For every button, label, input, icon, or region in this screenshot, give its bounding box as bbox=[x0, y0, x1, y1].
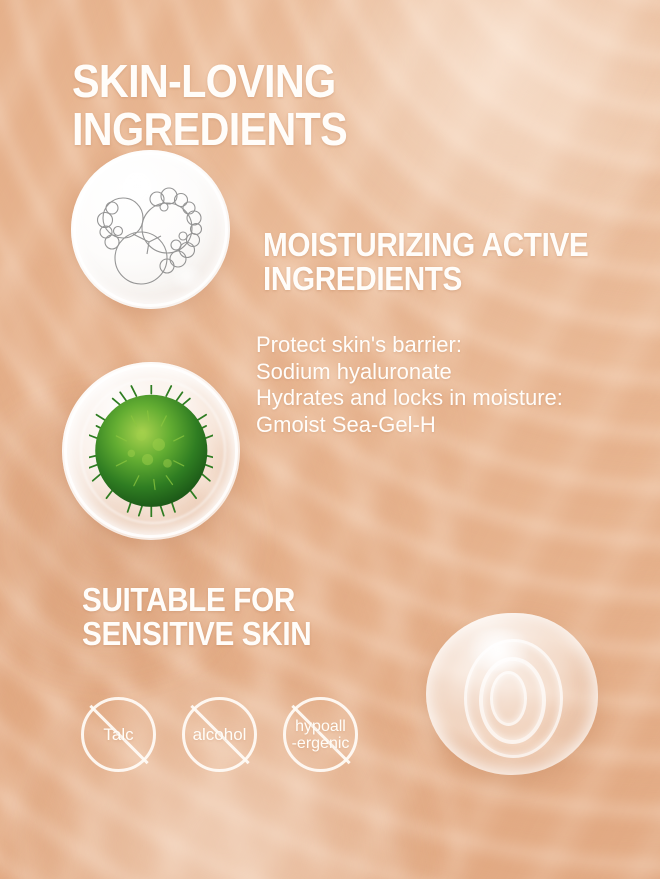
badge-label: Talc bbox=[64, 726, 174, 744]
gel-ripple-inner bbox=[490, 671, 527, 726]
algae-sphere-icon bbox=[89, 385, 214, 517]
page-title: SKIN-LOVING INGREDIENTS bbox=[72, 58, 601, 154]
badge-talc: Talc bbox=[81, 697, 156, 772]
product-infographic-poster: SKIN-LOVING INGREDIENTS bbox=[0, 0, 660, 879]
badge-hypoallergenic: hypoall -ergenic bbox=[283, 697, 358, 772]
moisturizing-body-text: Protect skin's barrier: Sodium hyalurona… bbox=[256, 332, 616, 438]
moss-droplet-image bbox=[62, 362, 240, 540]
bubble-cluster-icon bbox=[71, 150, 230, 309]
gel-droplet-image bbox=[426, 613, 598, 775]
bubble-droplet-image bbox=[71, 150, 230, 309]
badge-label: hypoall -ergenic bbox=[266, 718, 376, 752]
moisturizing-heading: MOISTURIZING ACTIVE INGREDIENTS bbox=[263, 228, 588, 297]
badge-label: alcohol bbox=[165, 726, 275, 744]
badge-alcohol: alcohol bbox=[182, 697, 257, 772]
free-from-badge-group: Talc alcohol hypoall -ergenic bbox=[81, 697, 358, 772]
gel-highlight bbox=[459, 629, 538, 671]
sensitive-skin-heading: SUITABLE FOR SENSITIVE SKIN bbox=[82, 583, 311, 652]
